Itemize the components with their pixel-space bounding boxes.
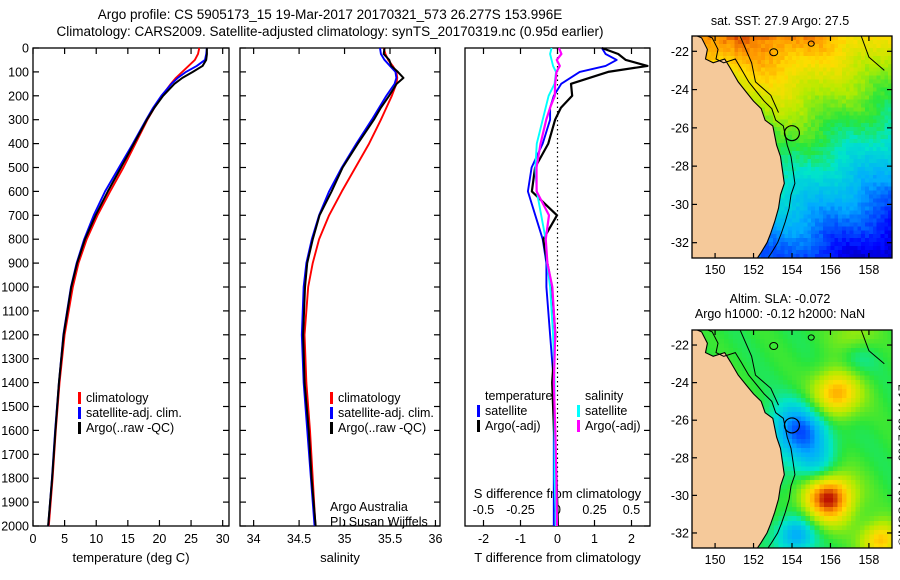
svg-text:1100: 1100 [2,304,29,318]
svg-text:600: 600 [8,185,29,199]
legend-label-s-satellite: satellite [585,404,627,418]
svg-text:-22: -22 [671,45,689,59]
svg-text:5: 5 [61,532,68,546]
svg-text:35: 35 [338,532,352,546]
svg-text:0.5: 0.5 [623,503,640,517]
svg-text:-0.25: -0.25 [506,503,535,517]
sst-title-text: sat. SST: 27.9 Argo: 27.5 [711,14,849,28]
legend-item-climatology: climatology [330,390,434,405]
legend-swatch-t-satellite [477,405,480,417]
svg-text:800: 800 [8,233,29,247]
legend-label-satellite: satellite-adj. clim. [86,406,182,420]
svg-text:salinity: salinity [320,550,360,565]
svg-text:100: 100 [8,65,29,79]
difference-legend-temperature: temperature satellite Argo(-adj) [477,389,552,433]
svg-text:-24: -24 [671,83,689,97]
salinity-panel: 3434.53535.536salinity [238,36,448,580]
svg-text:25: 25 [184,532,198,546]
legend-label-climatology: climatology [86,391,149,405]
svg-text:0: 0 [554,532,561,546]
legend-swatch-argo [330,422,333,434]
svg-text:-2: -2 [478,532,489,546]
svg-text:15: 15 [121,532,135,546]
salinity-legend: climatology satellite-adj. clim. Argo(..… [330,390,434,435]
svg-text:700: 700 [8,209,29,223]
svg-text:1600: 1600 [1,424,29,438]
legend-label-t-argo: Argo(-adj) [485,419,541,433]
figure-title: Argo profile: CS 5905173_15 19-Mar-2017 … [0,6,660,40]
legend-label-argo: Argo(..raw -QC) [338,421,426,435]
title-line-1: Argo profile: CS 5905173_15 19-Mar-2017 … [0,6,660,23]
svg-text:1700: 1700 [1,448,29,462]
legend-item-t-argo: Argo(-adj) [477,418,552,433]
difference-panel: -0.5-0.2500.250.5S difference from clima… [455,36,665,580]
legend-item-climatology: climatology [78,390,182,405]
svg-text:500: 500 [8,161,29,175]
svg-text:400: 400 [8,137,29,151]
legend-item-s-satellite: satellite [577,403,641,418]
svg-text:-30: -30 [671,198,689,212]
svg-text:10: 10 [89,532,103,546]
svg-text:-26: -26 [671,121,689,135]
svg-text:154: 154 [782,263,803,277]
svg-text:1: 1 [591,532,598,546]
svg-text:34.5: 34.5 [287,532,311,546]
legend-swatch-s-argo [577,420,580,432]
legend-item-s-argo: Argo(-adj) [577,418,641,433]
program-name: Argo Australia [330,500,428,515]
legend-title-temperature: temperature [485,389,552,403]
svg-text:0.25: 0.25 [582,503,606,517]
svg-text:0: 0 [22,42,29,56]
svg-text:2000: 2000 [1,520,29,534]
legend-label-climatology: climatology [338,391,401,405]
legend-swatch-climatology [78,392,81,404]
svg-text:158: 158 [858,263,879,277]
svg-text:1000: 1000 [1,281,29,295]
svg-text:30: 30 [216,532,230,546]
legend-swatch-s-satellite [577,405,580,417]
svg-text:35.5: 35.5 [378,532,402,546]
svg-text:1500: 1500 [1,400,29,414]
svg-text:temperature (deg C): temperature (deg C) [72,550,189,565]
temperature-legend: climatology satellite-adj. clim. Argo(..… [78,390,182,435]
svg-text:T difference from climatology: T difference from climatology [474,550,641,565]
legend-label-satellite: satellite-adj. clim. [338,406,434,420]
svg-text:-1: -1 [515,532,526,546]
legend-item-t-satellite: satellite [477,403,552,418]
svg-text:20: 20 [152,532,166,546]
svg-text:-32: -32 [671,236,689,250]
copyright-label: ©IMOS 26-Mar-2017 20:41:17 [896,384,900,546]
svg-text:300: 300 [8,113,29,127]
argo-program-note: Argo Australia PI: Susan Wijffels [330,500,428,530]
temperature-panel: 0100200300400500600700800900100011001200… [0,36,240,580]
svg-text:36: 36 [429,532,443,546]
legend-swatch-climatology [330,392,333,404]
svg-text:1900: 1900 [1,496,29,510]
svg-text:150: 150 [705,263,726,277]
legend-item-argo: Argo(..raw -QC) [78,420,182,435]
sla-map: -22-24-26-28-30-32150152154156158 [660,326,900,580]
program-pi: PI: Susan Wijffels [330,515,428,530]
difference-legend-salinity: salinity satellite Argo(-adj) [577,389,641,433]
legend-swatch-satellite [330,407,333,419]
svg-text:900: 900 [8,257,29,271]
legend-item-satellite: satellite-adj. clim. [330,405,434,420]
svg-text:-0.5: -0.5 [473,503,495,517]
sst-map-title: sat. SST: 27.9 Argo: 27.5 [660,14,900,29]
svg-text:1800: 1800 [1,472,29,486]
svg-text:-28: -28 [671,160,689,174]
svg-text:152: 152 [743,263,764,277]
legend-label-s-argo: Argo(-adj) [585,419,641,433]
sla-title-line-2: Argo h1000: -0.12 h2000: NaN [660,307,900,322]
legend-item-argo: Argo(..raw -QC) [330,420,434,435]
svg-text:1200: 1200 [1,328,29,342]
svg-text:2: 2 [628,532,635,546]
svg-text:0: 0 [30,532,37,546]
svg-text:200: 200 [8,89,29,103]
legend-swatch-satellite [78,407,81,419]
svg-text:1400: 1400 [1,376,29,390]
svg-text:34: 34 [247,532,261,546]
legend-label-t-satellite: satellite [485,404,527,418]
legend-item-satellite: satellite-adj. clim. [78,405,182,420]
svg-text:1300: 1300 [1,352,29,366]
sst-map: -22-24-26-28-30-32150152154156158 [660,32,900,292]
legend-title-salinity: salinity [585,389,641,403]
sla-map-title: Altim. SLA: -0.072 Argo h1000: -0.12 h20… [660,292,900,322]
sla-title-line-1: Altim. SLA: -0.072 [660,292,900,307]
legend-swatch-t-argo [477,420,480,432]
legend-label-argo: Argo(..raw -QC) [86,421,174,435]
svg-text:156: 156 [820,263,841,277]
legend-swatch-argo [78,422,81,434]
